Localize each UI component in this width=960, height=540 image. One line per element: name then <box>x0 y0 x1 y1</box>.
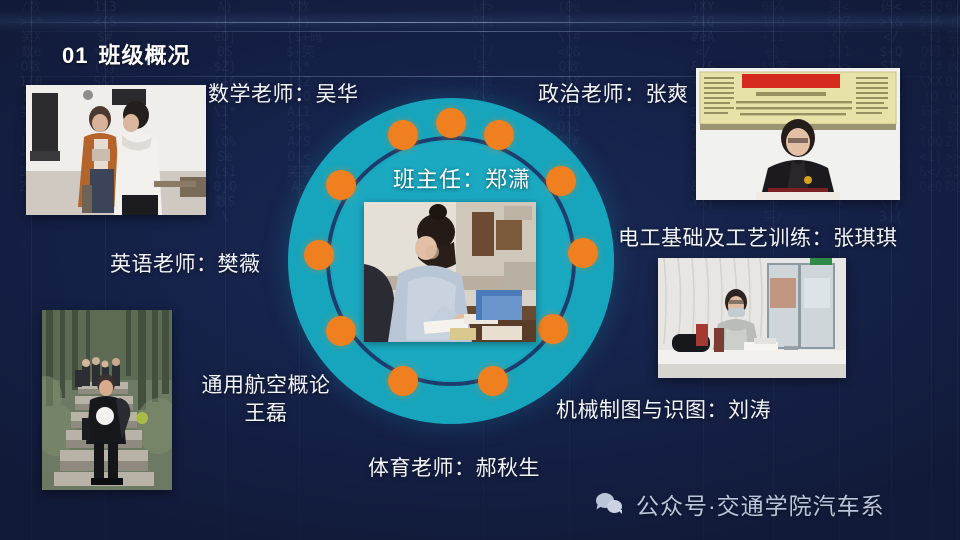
ring-dot-7 <box>568 238 598 268</box>
ring-dot-9 <box>538 314 568 344</box>
label-head-teacher: 班主任：郑潇 <box>312 162 612 194</box>
ring-dot-6 <box>304 240 334 270</box>
page-title-text: 班级概况 <box>98 43 190 68</box>
label-politics-teacher: 政治老师：张爽 <box>538 78 689 108</box>
label-aviation-course: 通用航空概论 王磊 <box>186 372 346 427</box>
photo-party-oath-teacher-image <box>696 68 900 200</box>
code-rain-column-1: /数>+*笑X数eO数1{0X>笑%Z1|)e*X%30YZ&% <box>18 0 44 540</box>
photo-front-desk-teacher <box>658 258 846 378</box>
label-pe-teacher: 体育老师：郝秋生 <box>368 452 540 482</box>
label-electrical-teacher: 电工基础及工艺训练：张琪琪 <box>618 222 898 252</box>
watermark-text: 公众号·交通学院汽车系 <box>636 487 885 521</box>
photo-front-desk-teacher-image <box>658 258 846 378</box>
code-rain-column-11: S3Q&+&*码O码O(#\XX(O码<>1|(OQ<1|&</QeQ <box>918 0 944 540</box>
photo-outdoor-trail <box>42 310 172 490</box>
photo-head-teacher <box>364 202 536 342</box>
slide-canvas: /数>+*笑X数eO数1{0X>笑%Z1|)e*X%30YZ&%1i3<{S$#… <box>0 0 960 540</box>
background-hairline-1 <box>31 0 32 540</box>
watermark: 公众号·交通学院汽车系 <box>596 487 885 521</box>
page-title: 01班级概况 <box>62 38 191 70</box>
label-mechanical-drawing-teacher: 机械制图与识图：刘涛 <box>556 394 771 424</box>
label-aviation-course-title: 通用航空概论 <box>186 372 346 400</box>
photo-party-oath-teacher <box>696 68 900 200</box>
background-hairline-12 <box>957 0 958 540</box>
wechat-icon <box>596 492 626 516</box>
ring-dot-2 <box>388 120 418 150</box>
photo-classroom-students-image <box>26 85 206 215</box>
label-aviation-course-teacher: 王磊 <box>186 400 346 428</box>
label-english-teacher: 英语老师：樊薇 <box>110 248 261 278</box>
page-title-number: 01 <box>62 43 88 68</box>
photo-head-teacher-image <box>364 202 536 342</box>
code-rain-column-12: 0/Q(1笑3iQ数Z0(&OO笑数)Z|%>>i$3i数笑 <box>944 0 960 540</box>
ring-dot-8 <box>326 316 356 346</box>
light-streak-2 <box>0 31 960 32</box>
light-streak-1 <box>0 22 960 23</box>
ring-dot-11 <box>478 366 508 396</box>
ring-dot-1 <box>436 108 466 138</box>
ring-dot-3 <box>484 120 514 150</box>
photo-classroom-students <box>26 85 206 215</box>
background-hairline-11 <box>931 0 932 540</box>
ring-dot-10 <box>388 366 418 396</box>
photo-outdoor-trail-image <box>42 310 172 490</box>
label-math-teacher: 数学老师：吴华 <box>208 78 359 108</box>
glow-band-top <box>0 10 960 32</box>
